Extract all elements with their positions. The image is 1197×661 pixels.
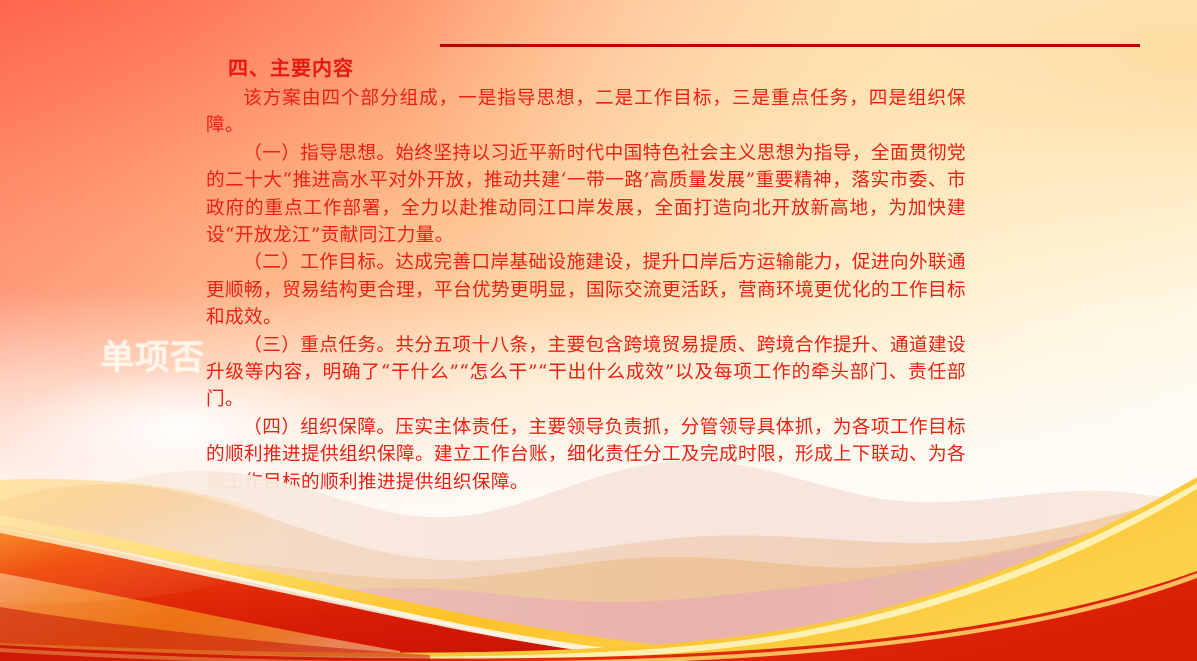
- decorative-landscape-svg: [0, 431, 1197, 661]
- page-title: 四、主要内容: [228, 56, 966, 81]
- bottom-decoration: [0, 431, 1197, 661]
- paragraph-intro: 该方案由四个部分组成，一是指导思想，二是工作目标，三是重点任务，四是组织保障。: [206, 85, 966, 140]
- paragraph-work-goals: （二）工作目标。达成完善口岸基础设施建设，提升口岸后方运输能力，促进向外联通更顺…: [206, 249, 966, 331]
- paragraph-guiding-ideology: （一）指导思想。始终坚持以习近平新时代中国特色社会主义思想为指导，全面贯彻党的二…: [206, 140, 966, 250]
- watermark-text: 单项否: [100, 330, 205, 379]
- paragraph-key-tasks: （三）重点任务。共分五项十八条，主要包含跨境贸易提质、跨境合作提升、通道建设升级…: [206, 332, 966, 414]
- top-divider-rule: [440, 44, 1140, 47]
- slide-canvas: 单项否 四、主要内容 该方案由四个部分组成，一是指导思想，二是工作目标，三是重点…: [0, 0, 1197, 661]
